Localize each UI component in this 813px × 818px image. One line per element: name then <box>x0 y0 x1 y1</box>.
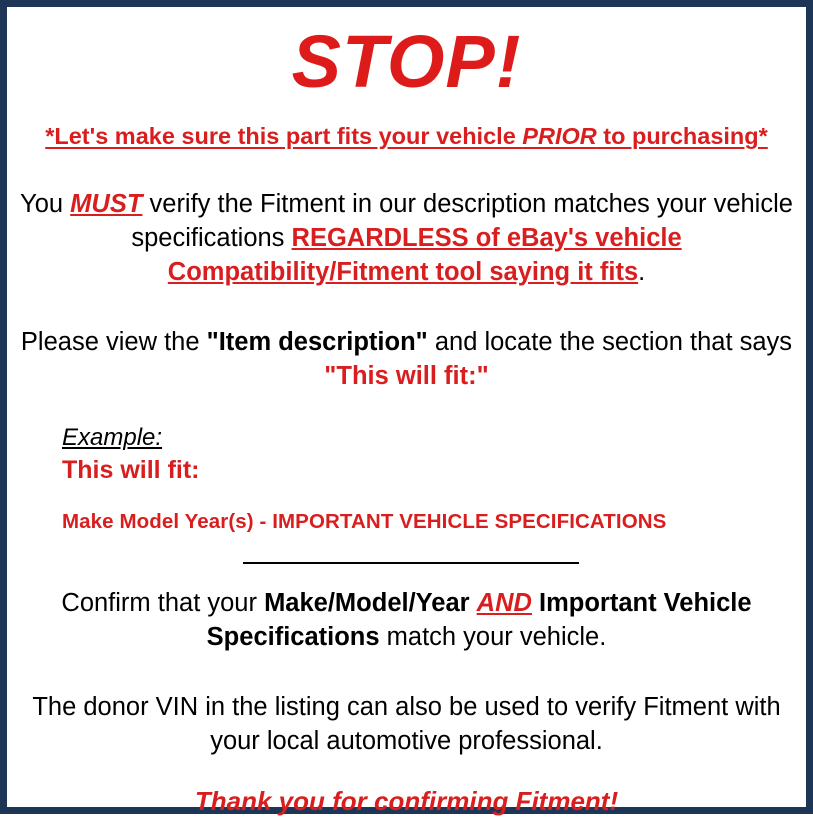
confirm-space-1 <box>470 589 477 617</box>
subtitle-text-after: to purchasing* <box>597 123 768 149</box>
example-label: Example: <box>62 423 162 453</box>
vin-paragraph: The donor VIN in the listing can also be… <box>17 654 796 758</box>
notice-content: STOP! *Let's make sure this part fits yo… <box>7 7 806 807</box>
subtitle-text-before: *Let's make sure this part fits your veh… <box>45 123 522 149</box>
divider-wrap <box>17 536 796 564</box>
fitment-notice-card: STOP! *Let's make sure this part fits yo… <box>0 0 813 814</box>
confirm-text-2: match your vehicle. <box>380 623 607 651</box>
subtitle-emphasis-prior: PRIOR <box>522 123 596 149</box>
subtitle-line: *Let's make sure this part fits your veh… <box>17 105 796 151</box>
thanks-line: Thank you for confirming Fitment! <box>17 758 796 818</box>
confirm-space-2 <box>532 589 539 617</box>
example-fit-line: This will fit: <box>62 453 796 486</box>
emphasis-and: AND <box>477 589 532 617</box>
example-spec-line: Make Model Year(s) - IMPORTANT VEHICLE S… <box>62 486 796 536</box>
must-text-3: . <box>638 258 645 286</box>
please-text-1: Please view the <box>21 328 207 356</box>
emphasis-must: MUST <box>70 190 142 218</box>
example-label-row: Example: <box>62 423 796 453</box>
please-paragraph: Please view the "Item description" and l… <box>17 289 796 393</box>
bold-item-description: "Item description" <box>207 328 428 356</box>
must-text-1: You <box>20 190 70 218</box>
bold-make-model-year: Make/Model/Year <box>264 589 470 617</box>
confirm-text-1: Confirm that your <box>61 589 264 617</box>
confirm-paragraph: Confirm that your Make/Model/Year AND Im… <box>17 564 796 654</box>
red-this-will-fit: "This will fit:" <box>324 362 488 390</box>
horizontal-rule <box>243 562 579 564</box>
stop-heading: STOP! <box>17 7 796 105</box>
must-paragraph: You MUST verify the Fitment in our descr… <box>17 151 796 289</box>
please-text-2: and locate the section that says <box>428 328 792 356</box>
example-block: Example: This will fit: Make Model Year(… <box>17 393 796 536</box>
